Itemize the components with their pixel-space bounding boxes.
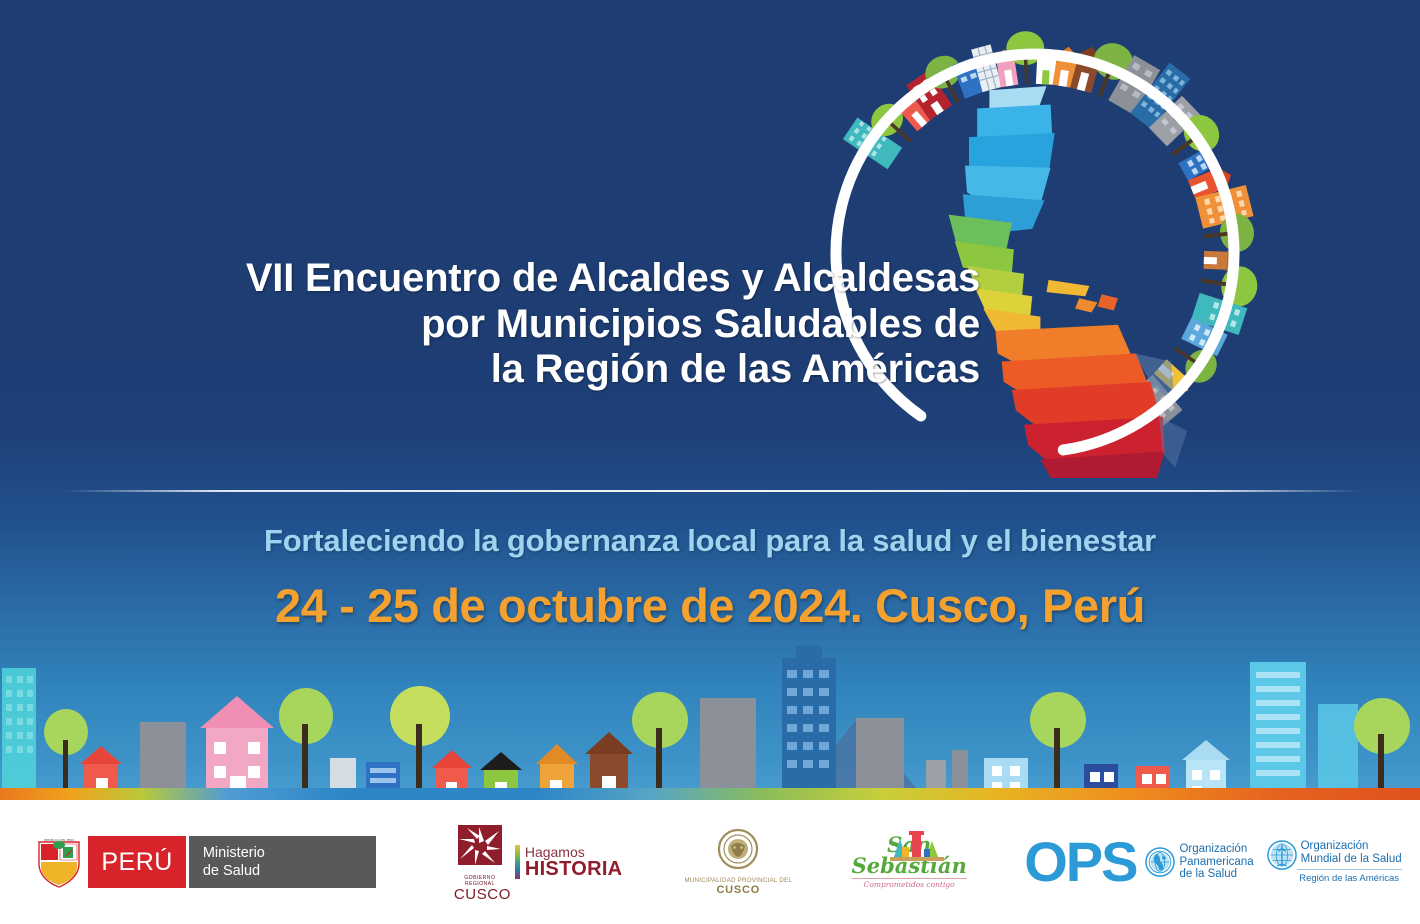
san-sebastian-tagline: Comprometidos contigo	[852, 878, 967, 889]
who-emblem-icon	[1267, 840, 1297, 870]
paho-name-text: Organización Panamericana de la Salud	[1179, 843, 1253, 882]
color-bar-accent	[515, 845, 520, 879]
logo-gobierno-regional-cusco: GOBIERNO REGIONAL CUSCO Hagamos HISTORIA	[454, 823, 623, 902]
event-banner: VII Encuentro de Alcaldes y Alcaldesas p…	[0, 0, 1420, 924]
cusco-starburst-icon	[455, 823, 505, 869]
title-line-1: VII Encuentro de Alcaldes y Alcaldesas	[120, 256, 980, 302]
ops-acronym: OPS	[1024, 840, 1136, 885]
who-region-label: Región de las Américas	[1297, 869, 1402, 884]
historia-label: HISTORIA	[525, 859, 623, 879]
logo-municipalidad-provincial-cusco: MUNICIPALIDAD PROVINCIAL DEL CUSCO	[684, 829, 792, 896]
americas-globe-emblem	[800, 18, 1270, 478]
event-title: VII Encuentro de Alcaldes y Alcaldesas p…	[120, 256, 980, 393]
city-skyline-illustration	[0, 640, 1420, 800]
ministerio-line-2: de Salud	[203, 862, 360, 880]
gobierno-regional-main-label: CUSCO	[454, 887, 506, 902]
colored-ground-strip	[0, 788, 1420, 800]
who-name-text: Organización Mundial de la Salud	[1301, 840, 1402, 866]
who-emblem-block: Organización Mundial de la Salud Región …	[1267, 840, 1402, 884]
horizontal-rule	[62, 490, 1362, 492]
sponsor-logo-bar: REPÚBLICA DEL PERÚ PERÚ Ministerio de Sa…	[0, 800, 1420, 924]
peru-label: PERÚ	[88, 836, 185, 888]
who-line-1: Organización	[1301, 840, 1402, 853]
ministerio-label: Ministerio de Salud	[186, 836, 376, 888]
gobierno-regional-small-label: GOBIERNO REGIONAL	[454, 875, 506, 887]
peru-coat-of-arms-icon: REPÚBLICA DEL PERÚ	[36, 836, 82, 888]
event-dateline: 24 - 25 de octubre de 2024. Cusco, Perú	[0, 578, 1420, 633]
paho-globe-icon	[1145, 847, 1175, 877]
hagamos-label: Hagamos	[525, 845, 623, 859]
san-sebastian-monument-icon	[886, 831, 948, 865]
svg-text:REPÚBLICA DEL PERÚ: REPÚBLICA DEL PERÚ	[44, 837, 74, 842]
event-subtitle: Fortaleciendo la gobernanza local para l…	[0, 523, 1420, 559]
paho-line-3: de la Salud	[1179, 868, 1253, 881]
logo-ops-paho: OPS Organización Panamericana de la Salu…	[1024, 840, 1401, 885]
paho-line-1: Organización	[1179, 843, 1253, 856]
municipalidad-small-label: MUNICIPALIDAD PROVINCIAL DEL	[684, 877, 792, 884]
municipalidad-main-label: CUSCO	[684, 884, 792, 896]
title-line-2: por Municipios Saludables de	[120, 302, 980, 348]
cusco-seal-icon	[718, 829, 758, 869]
who-line-2: Mundial de la Salud	[1301, 853, 1402, 866]
paho-line-2: Panamericana	[1179, 856, 1253, 869]
logo-san-sebastian: San Sebastián Comprometidos contigo	[850, 835, 968, 889]
paho-emblem-block: Organización Panamericana de la Salud	[1145, 843, 1253, 882]
logo-peru-ministerio-de-salud: REPÚBLICA DEL PERÚ PERÚ Ministerio de Sa…	[36, 834, 375, 890]
title-line-3: la Región de las Américas	[120, 347, 980, 393]
ministerio-line-1: Ministerio	[203, 844, 360, 862]
